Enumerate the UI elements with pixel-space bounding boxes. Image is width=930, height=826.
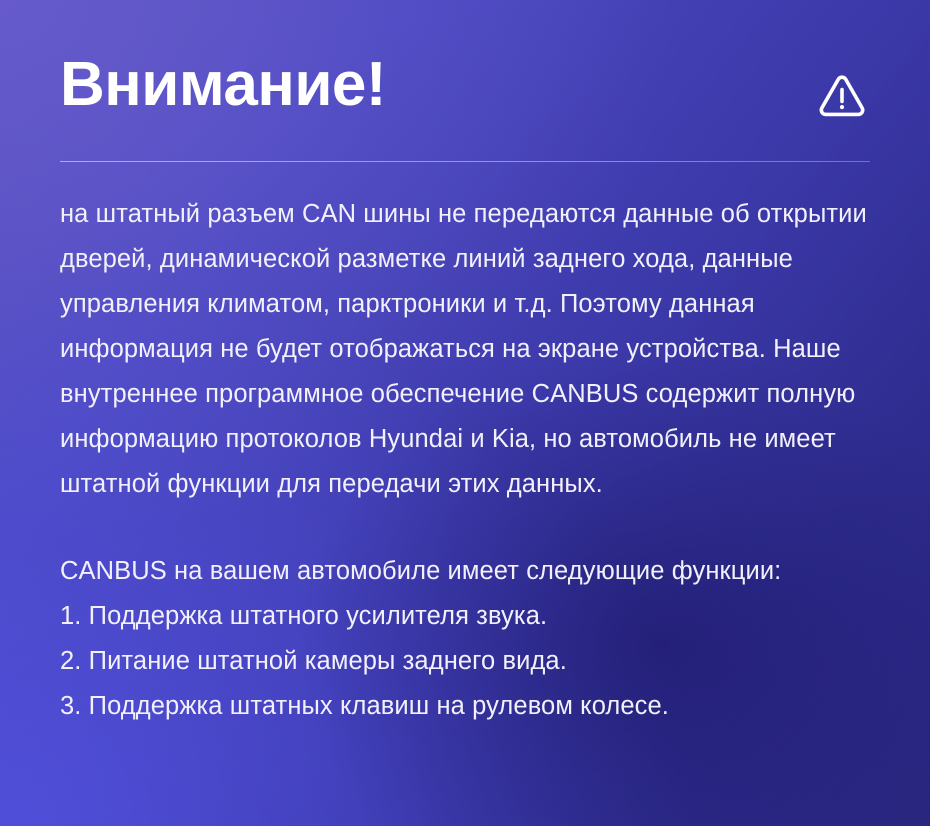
features-intro: CANBUS на вашем автомобиле имеет следующ…	[60, 549, 870, 594]
notice-body: на штатный разъем CAN шины не передаются…	[60, 192, 870, 507]
notice-paragraph: на штатный разъем CAN шины не передаются…	[60, 192, 870, 507]
poster-header: Внимание!	[60, 0, 870, 122]
header-divider	[60, 161, 870, 162]
poster-content: Внимание! на штатный разъем CAN шины не …	[0, 0, 930, 729]
warning-triangle-icon	[816, 70, 868, 122]
list-item: 1. Поддержка штатного усилителя звука.	[60, 594, 870, 639]
features-section: CANBUS на вашем автомобиле имеет следующ…	[60, 549, 870, 729]
warning-notice-poster: Внимание! на штатный разъем CAN шины не …	[0, 0, 930, 826]
list-item: 2. Питание штатной камеры заднего вида.	[60, 639, 870, 684]
list-item: 3. Поддержка штатных клавиш на рулевом к…	[60, 684, 870, 729]
page-title: Внимание!	[60, 54, 386, 116]
